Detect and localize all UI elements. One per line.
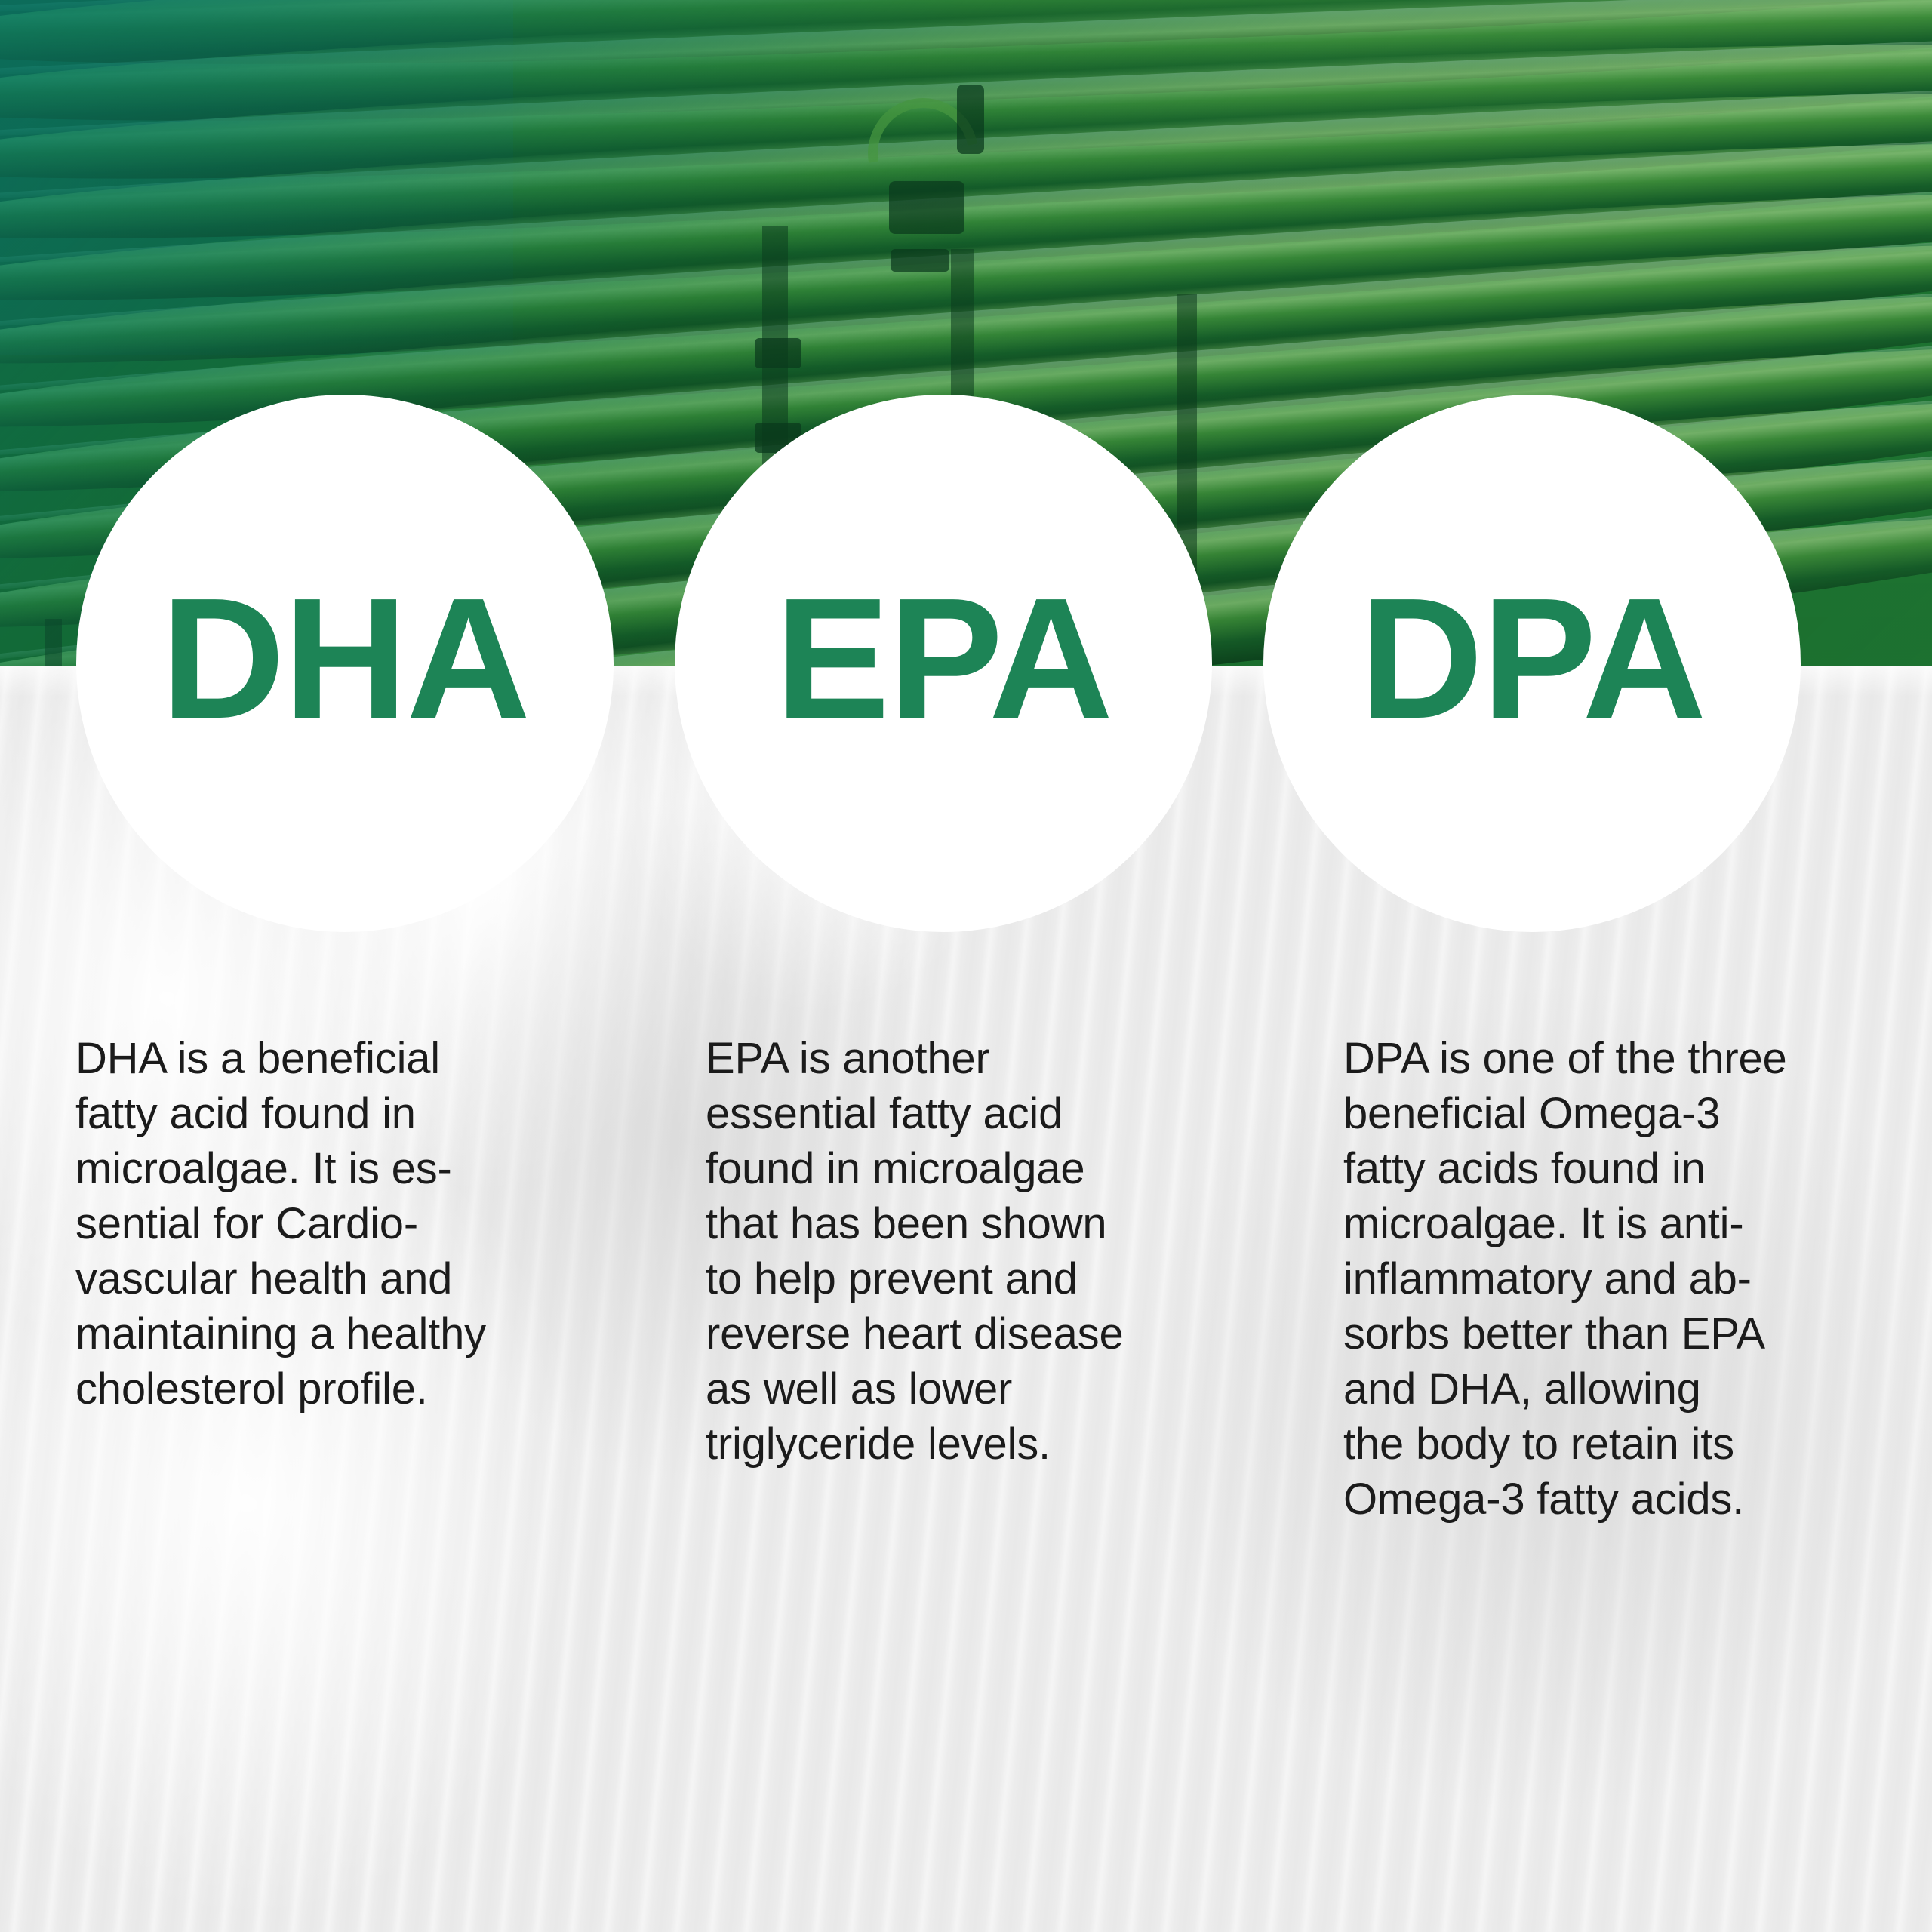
badge-circle-dha[interactable]: DHA (76, 395, 614, 932)
badge-label-dha: DHA (161, 573, 529, 745)
column-dpa-text: DPA is one of the three beneficial Omega… (1343, 1031, 1894, 1527)
column-epa-text: EPA is another essential fatty acid foun… (706, 1031, 1264, 1472)
badge-circle-epa[interactable]: EPA (675, 395, 1212, 932)
column-epa: EPA is another essential fatty acid foun… (706, 1031, 1264, 1472)
column-dha-text: DHA is a beneficial fatty acid found in … (75, 1031, 626, 1417)
badge-label-dpa: DPA (1359, 573, 1705, 745)
column-dha: DHA is a beneficial fatty acid found in … (75, 1031, 626, 1417)
badge-circle-dpa[interactable]: DPA (1263, 395, 1801, 932)
description-columns: DHA is a beneficial fatty acid found in … (0, 1031, 1932, 1710)
badge-label-epa: EPA (775, 573, 1112, 745)
column-dpa: DPA is one of the three beneficial Omega… (1343, 1031, 1894, 1527)
omega3-infographic: DHA EPA DPA DHA is a beneficial fatty ac… (0, 0, 1932, 1932)
